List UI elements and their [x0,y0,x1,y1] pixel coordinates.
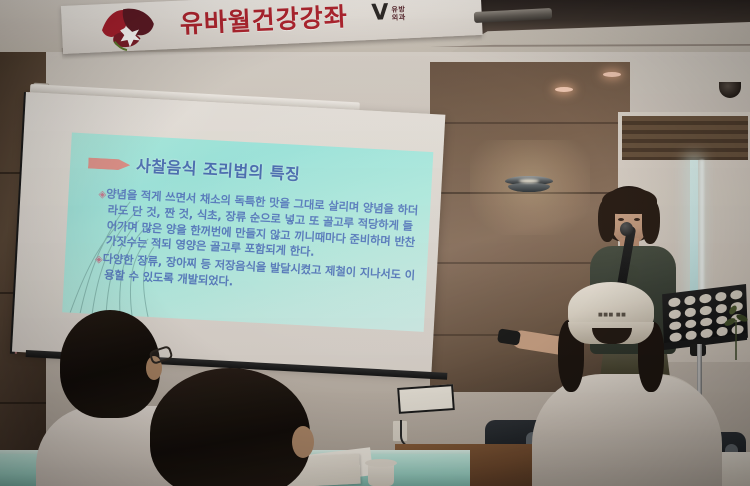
presentation-slide: 사찰음식 조리법의 특징 ◈양념을 적게 쓰면서 채소의 독특한 맛을 그대로 … [62,133,433,332]
audience-head [150,368,310,486]
slide-bullet-1-text: 양념을 적게 쓰면서 채소의 독특한 맛을 그대로 살리며 양념을 하더라도 단… [106,187,419,259]
presenter-eye-left [618,218,624,221]
presenter-eye-right [634,218,640,221]
logo-caption: 유방외과 [391,5,406,22]
audience-ear [292,426,314,458]
recessed-ceiling-light [555,87,573,92]
lecture-room-photo: 유바월건강강좌 V 유방외과 사찰음식 조리법 [0,0,750,486]
recessed-ceiling-light [603,72,621,77]
potted-plant-icon [723,300,750,360]
slide-arrow-marker [88,155,131,172]
flower-icon [93,3,165,52]
presenter-hair-left [598,200,615,242]
window-blinds[interactable] [622,116,748,160]
window-highlight [700,160,704,310]
wall-sconce-light [505,173,553,193]
presenter-hair-right [642,200,660,244]
audience-front-center [120,368,360,486]
audience-shoulders [532,374,722,486]
slide-title: 사찰음식 조리법의 특징 [136,152,301,185]
paper-cup-lid [365,459,397,467]
audience-cap-wearer: ■■■ ■■ [554,282,674,486]
logo-checkmark-icon: V [371,0,389,26]
slide-body: ◈양념을 적게 쓰면서 채소의 독특한 맛을 그대로 살리며 양념을 하더라도 … [94,186,421,302]
cap-logo-text: ■■■ ■■ [598,312,626,318]
wall-sign [397,384,455,414]
clinic-logo: V 유방외과 [371,0,444,32]
banner-title: 유바월건강강좌 [179,0,348,41]
